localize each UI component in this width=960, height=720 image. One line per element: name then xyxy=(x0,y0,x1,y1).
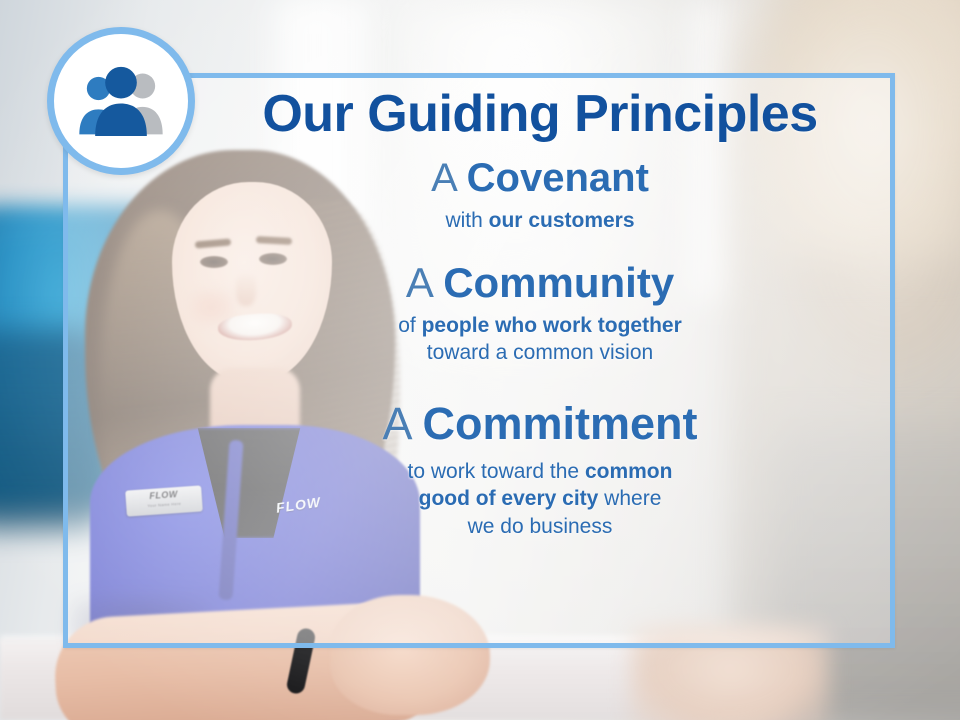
principle-commitment: A Commitment to work toward the common g… xyxy=(200,399,880,541)
principle-covenant: A Covenant with our customers xyxy=(200,156,880,235)
principle-community: A Community of people who work together … xyxy=(200,259,880,367)
sub-span: to work toward the xyxy=(408,460,585,483)
page-title: Our Guiding Principles xyxy=(200,86,880,142)
sub-span-bold: good of every city xyxy=(419,487,599,510)
content-text-block: Our Guiding Principles A Covenant with o… xyxy=(200,86,880,541)
people-badge xyxy=(47,27,195,175)
sub-span: where xyxy=(598,487,661,510)
principle-heading: A Commitment xyxy=(200,399,880,449)
people-group-icon xyxy=(71,61,171,141)
principle-subtext: to work toward the common good of every … xyxy=(200,458,880,541)
principle-subtext-line: good of every city where xyxy=(200,485,880,513)
sub-span: with xyxy=(445,209,488,232)
subject-name-badge: FLOW Your Name Here xyxy=(125,485,203,516)
principle-article: A xyxy=(431,156,455,200)
principle-subtext: of people who work together toward a com… xyxy=(200,312,880,367)
principle-subtext-line: we do business xyxy=(200,513,880,541)
blurred-person-hand xyxy=(630,625,830,720)
sub-span: we do business xyxy=(468,515,613,538)
sub-span-bold: people who work together xyxy=(422,314,682,337)
sub-span: toward a common vision xyxy=(427,341,653,364)
principle-subtext-line: to work toward the common xyxy=(200,458,880,486)
principle-subtext-line: with our customers xyxy=(200,207,880,235)
principle-subtext: with our customers xyxy=(200,207,880,235)
principle-article: A xyxy=(382,398,410,449)
sub-span: of xyxy=(398,314,421,337)
principle-keyword: Covenant xyxy=(467,156,649,200)
principle-heading: A Covenant xyxy=(200,156,880,201)
sub-span-bold: common xyxy=(585,460,673,483)
sub-span-bold: our customers xyxy=(489,209,635,232)
principle-keyword: Community xyxy=(443,259,674,306)
principle-subtext-line: toward a common vision xyxy=(200,339,880,367)
principle-heading: A Community xyxy=(200,259,880,306)
principle-subtext-line: of people who work together xyxy=(200,312,880,340)
subject-clasped-hands xyxy=(330,595,490,715)
principle-article: A xyxy=(406,259,432,306)
principle-keyword: Commitment xyxy=(423,398,698,449)
poster-canvas: FLOW FLOW Your Name Here xyxy=(0,0,960,720)
